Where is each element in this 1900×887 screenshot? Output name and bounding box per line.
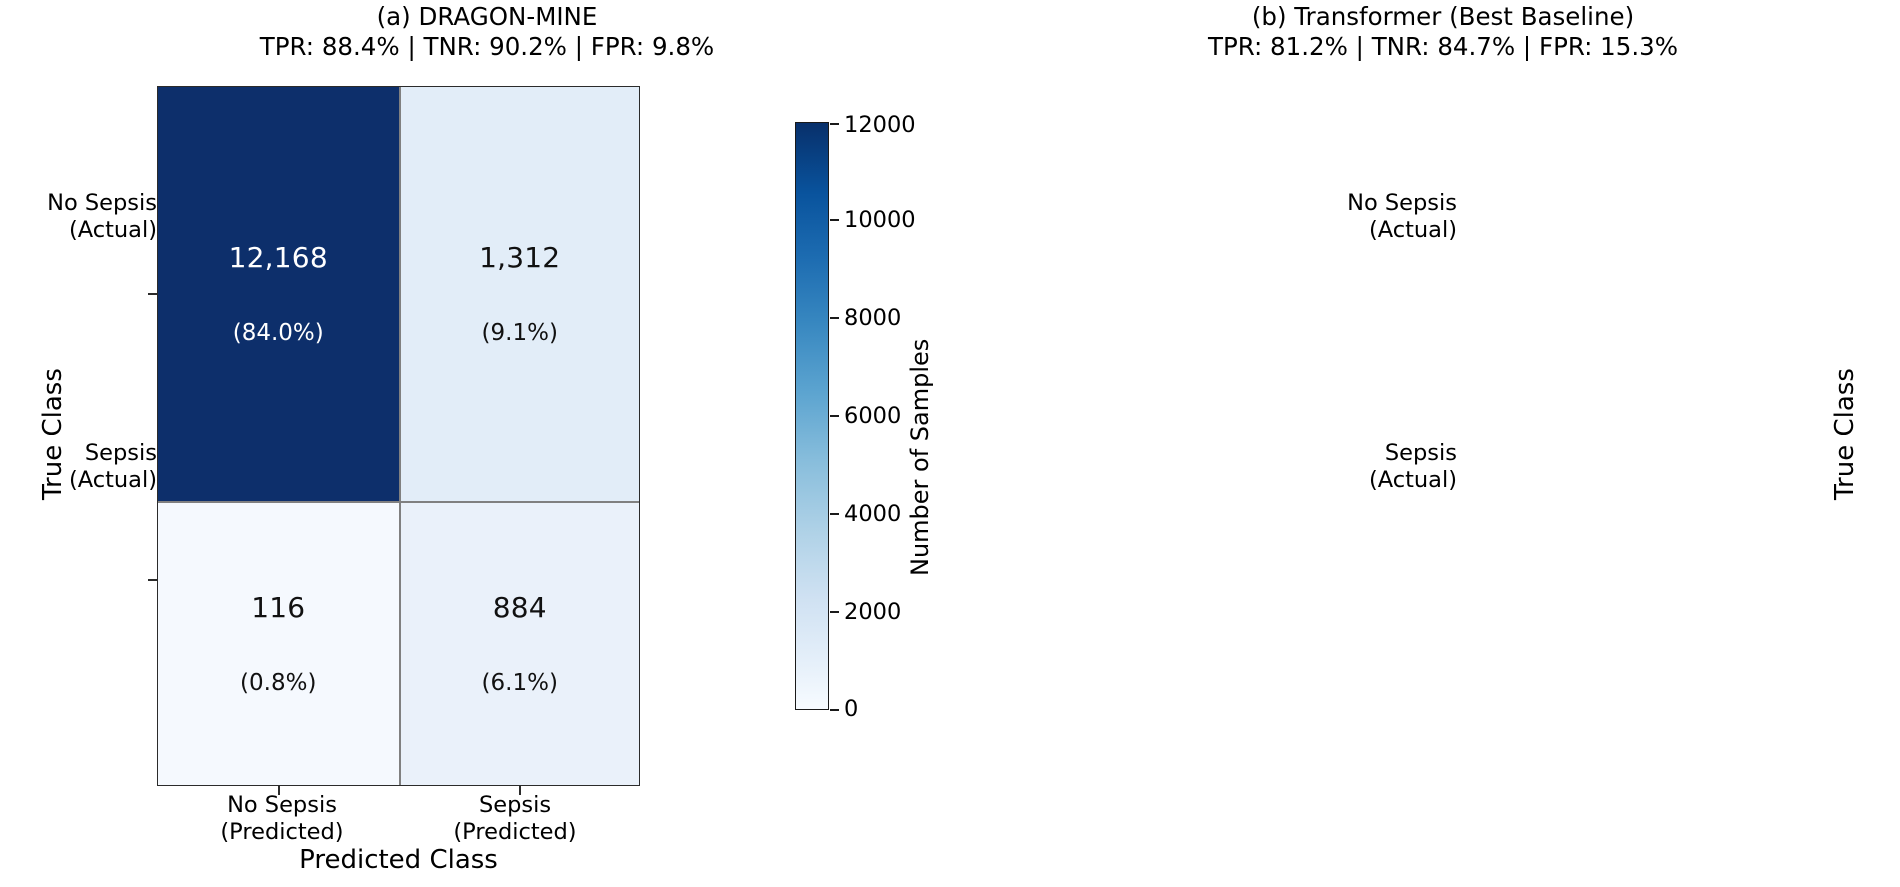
x-tick-label-no-sepsis: No Sepsis (Predicted): [157, 792, 407, 846]
colorbar-tick-label: 0: [844, 698, 858, 720]
y-tick-mark: [148, 579, 157, 581]
cell-count: 884: [493, 591, 547, 625]
cell-count: 116: [251, 591, 305, 625]
matrix-cell-a-tp: 884 (6.1%): [399, 501, 640, 785]
colorbar-tick-label: 6000: [844, 405, 901, 427]
colorbar-gradient: 12000 10000 8000 6000 4000 2000 0: [795, 122, 829, 710]
y-tick-line1: No Sepsis: [47, 190, 157, 217]
y-tick-line2: (Actual): [1369, 467, 1457, 494]
colorbar-tick-label: 12000: [844, 114, 916, 136]
panel-a-subtitle: TPR: 88.4% | TNR: 90.2% | FPR: 9.8%: [24, 32, 950, 62]
colorbar-a: 12000 10000 8000 6000 4000 2000 0: [795, 122, 829, 710]
x-axis-label: Predicted Class: [157, 845, 640, 875]
panel-a-titles: (a) DRAGON-MINE TPR: 88.4% | TNR: 90.2% …: [0, 2, 950, 62]
y-tick-label-sepsis: Sepsis (Actual): [1369, 440, 1457, 494]
y-tick-label-no-sepsis: No Sepsis (Actual): [1347, 190, 1457, 244]
panel-transformer: (b) Transformer (Best Baseline) TPR: 81.…: [950, 0, 1900, 887]
panel-a-title: (a) DRAGON-MINE: [24, 2, 950, 32]
colorbar-tick-label: 10000: [844, 209, 916, 231]
y-tick-mark: [148, 293, 157, 295]
matrix-cell-a-fp: 1,312 (9.1%): [399, 87, 640, 501]
cell-percent: (6.1%): [482, 669, 558, 697]
cell-count: 1,312: [479, 241, 560, 275]
matrix-cell-a-tn: 12,168 (84.0%): [158, 87, 399, 501]
panel-b-subtitle: TPR: 81.2% | TNR: 84.7% | FPR: 15.3%: [986, 32, 1900, 62]
y-tick-line1: Sepsis: [69, 440, 157, 467]
y-tick-line1: No Sepsis: [1347, 190, 1457, 217]
y-tick-line2: (Actual): [1347, 217, 1457, 244]
colorbar-tick-label: 2000: [844, 601, 901, 623]
colorbar-a-title: Number of Samples: [906, 339, 934, 576]
y-tick-line2: (Actual): [69, 467, 157, 494]
cell-count: 12,168: [229, 241, 328, 275]
cell-percent: (9.1%): [482, 319, 558, 347]
matrix-cell-a-fn: 116 (0.8%): [158, 501, 399, 785]
confusion-matrix-figure: (a) DRAGON-MINE TPR: 88.4% | TNR: 90.2% …: [0, 0, 1900, 887]
y-tick-label-sepsis: Sepsis (Actual): [69, 440, 157, 494]
cell-percent: (84.0%): [233, 319, 324, 347]
panel-b-titles: (b) Transformer (Best Baseline) TPR: 81.…: [950, 2, 1900, 62]
panel-b-title: (b) Transformer (Best Baseline): [986, 2, 1900, 32]
x-tick-label-sepsis: Sepsis (Predicted): [390, 792, 640, 846]
x-tick-line2: (Predicted): [390, 819, 640, 846]
y-tick-line2: (Actual): [47, 217, 157, 244]
x-tick-line1: Sepsis: [390, 792, 640, 819]
cell-percent: (0.8%): [240, 669, 316, 697]
x-tick-line2: (Predicted): [157, 819, 407, 846]
colorbar-tick-label: 4000: [844, 503, 901, 525]
y-tick-line1: Sepsis: [1369, 440, 1457, 467]
x-tick-line1: No Sepsis: [157, 792, 407, 819]
confusion-matrix-a: 12,168 (84.0%) 1,312 (9.1%) 116 (0.8%) 8…: [157, 86, 640, 786]
y-axis-label: True Class: [38, 368, 68, 500]
y-axis-label: True Class: [1830, 368, 1860, 500]
panel-dragon-mine: (a) DRAGON-MINE TPR: 88.4% | TNR: 90.2% …: [0, 0, 950, 887]
colorbar-tick-label: 8000: [844, 307, 901, 329]
y-tick-label-no-sepsis: No Sepsis (Actual): [47, 190, 157, 244]
